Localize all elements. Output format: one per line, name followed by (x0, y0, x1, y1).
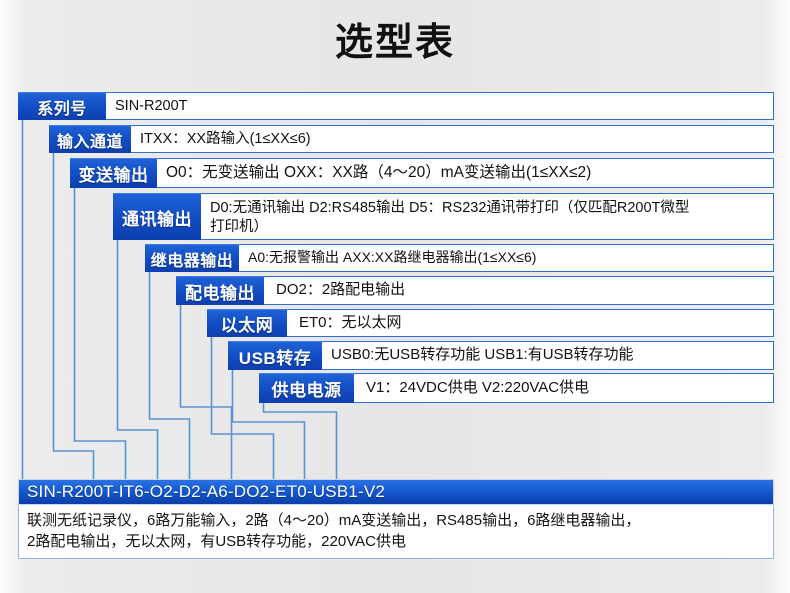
table-row: 继电器输出 A0:无报警输出 AXX:XX路继电器输出(1≤XX≤6) (145, 244, 774, 272)
table-row: 通讯输出 D0:无通讯输出 D2:RS485输出 D5：RS232通讯带打印（仅… (113, 193, 774, 240)
result-block: SIN-R200T-IT6-O2-D2-A6-DO2-ET0-USB1-V2 联… (18, 479, 774, 559)
row-label-relay-output: 继电器输出 (145, 244, 239, 272)
row-value-usb-storage: USB0:无USB转存功能 USB1:有USB转存功能 (322, 341, 774, 370)
row-label-power-supply: 供电电源 (259, 373, 354, 403)
communication-output-line-1: D0:无通讯输出 D2:RS485输出 D5：RS232通讯带打印（仅匹配R20… (210, 199, 689, 217)
row-label-series: 系列号 (18, 92, 106, 120)
row-label-input-channel: 输入通道 (49, 125, 131, 153)
result-description-line-2: 2路配电输出，无以太网，有USB转存功能，220VAC供电 (27, 531, 765, 552)
row-label-transmitter-output: 变送输出 (70, 158, 157, 188)
row-value-transmitter-output: O0：无变送输出 OXX：XX路（4～20）mA变送输出(1≤XX≤2) (157, 158, 774, 188)
row-value-input-channel: ITXX：XX路输入(1≤XX≤6) (131, 125, 774, 153)
row-label-communication-output: 通讯输出 (113, 193, 201, 240)
table-row: 供电电源 V1：24VDC供电 V2:220VAC供电 (259, 373, 774, 403)
row-value-series: SIN-R200T (106, 92, 774, 120)
table-row: 输入通道 ITXX：XX路输入(1≤XX≤6) (49, 125, 774, 153)
row-label-usb-storage: USB转存 (228, 341, 322, 370)
table-row: USB转存 USB0:无USB转存功能 USB1:有USB转存功能 (228, 341, 774, 370)
selection-table-diagram: 系列号 SIN-R200T 输入通道 ITXX：XX路输入(1≤XX≤6) 变送… (0, 0, 790, 593)
result-model-code: SIN-R200T-IT6-O2-D2-A6-DO2-ET0-USB1-V2 (18, 479, 774, 505)
table-row: 以太网 ET0：无以太网 (207, 309, 774, 337)
communication-output-line-2: 打印机） (210, 218, 689, 236)
row-value-power-supply: V1：24VDC供电 V2:220VAC供电 (354, 373, 774, 403)
row-label-ethernet: 以太网 (207, 309, 287, 337)
row-value-relay-output: A0:无报警输出 AXX:XX路继电器输出(1≤XX≤6) (239, 244, 774, 272)
result-description: 联测无纸记录仪，6路万能输入，2路（4～20）mA变送输出，RS485输出，6路… (18, 505, 774, 559)
table-row: 变送输出 O0：无变送输出 OXX：XX路（4～20）mA变送输出(1≤XX≤2… (70, 158, 774, 188)
table-row: 系列号 SIN-R200T (18, 92, 774, 120)
table-row: 配电输出 DO2：2路配电输出 (176, 276, 774, 305)
row-label-power-distribution-output: 配电输出 (176, 276, 264, 305)
result-description-line-1: 联测无纸记录仪，6路万能输入，2路（4～20）mA变送输出，RS485输出，6路… (27, 510, 765, 531)
row-value-ethernet: ET0：无以太网 (287, 309, 774, 337)
row-value-communication-output: D0:无通讯输出 D2:RS485输出 D5：RS232通讯带打印（仅匹配R20… (201, 193, 774, 240)
row-value-power-distribution-output: DO2：2路配电输出 (264, 276, 774, 305)
